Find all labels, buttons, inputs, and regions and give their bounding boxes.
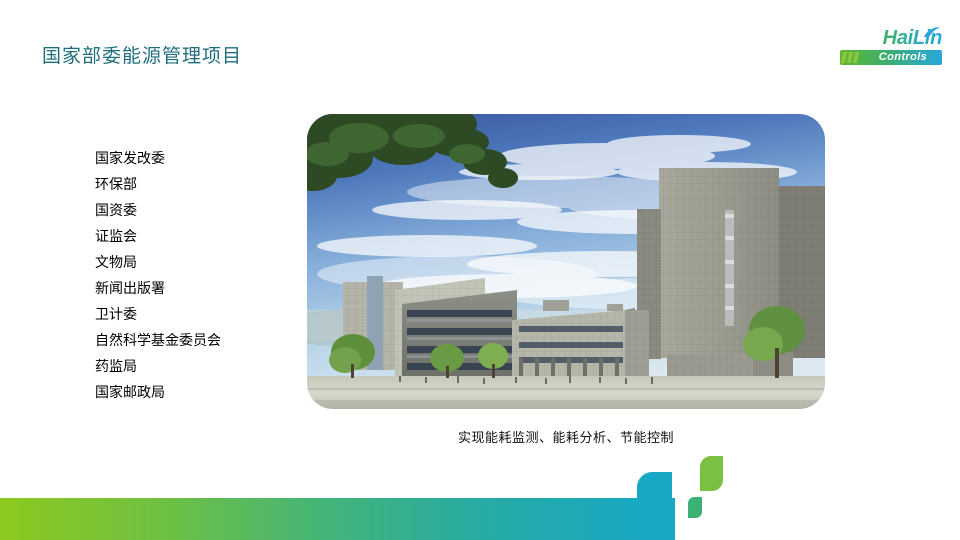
list-item: 国家邮政局: [95, 379, 295, 405]
brand-logo-ticks-icon: [842, 52, 864, 63]
list-item: 文物局: [95, 249, 295, 275]
page-title: 国家部委能源管理项目: [42, 41, 242, 68]
list-item: 国资委: [95, 197, 295, 223]
brand-logo: HaiLin Controls: [838, 28, 942, 68]
leaf-accent-large: [700, 456, 723, 491]
photo-svg: [307, 114, 825, 409]
leaf-icon: [923, 27, 941, 38]
list-item: 新闻出版署: [95, 275, 295, 301]
ministry-list: 国家发改委 环保部 国资委 证监会 文物局 新闻出版署 卫计委 自然科学基金委员…: [95, 145, 295, 405]
leaf-accent-small: [688, 497, 702, 518]
list-item: 环保部: [95, 171, 295, 197]
slide-root: 国家部委能源管理项目 HaiLin Controls 国家发改委 环保部 国资委…: [0, 0, 960, 540]
footer-decoration-svg: [0, 455, 960, 540]
list-item: 证监会: [95, 223, 295, 249]
photo-caption: 实现能耗监测、能耗分析、节能控制: [307, 427, 825, 446]
list-item: 国家发改委: [95, 145, 295, 171]
list-item: 卫计委: [95, 301, 295, 327]
list-item: 药监局: [95, 353, 295, 379]
brand-logo-subtitle: Controls: [868, 51, 938, 64]
footer-decoration: [0, 455, 960, 540]
office-complex-rendering-image: [307, 114, 825, 409]
list-item: 自然科学基金委员会: [95, 327, 295, 353]
